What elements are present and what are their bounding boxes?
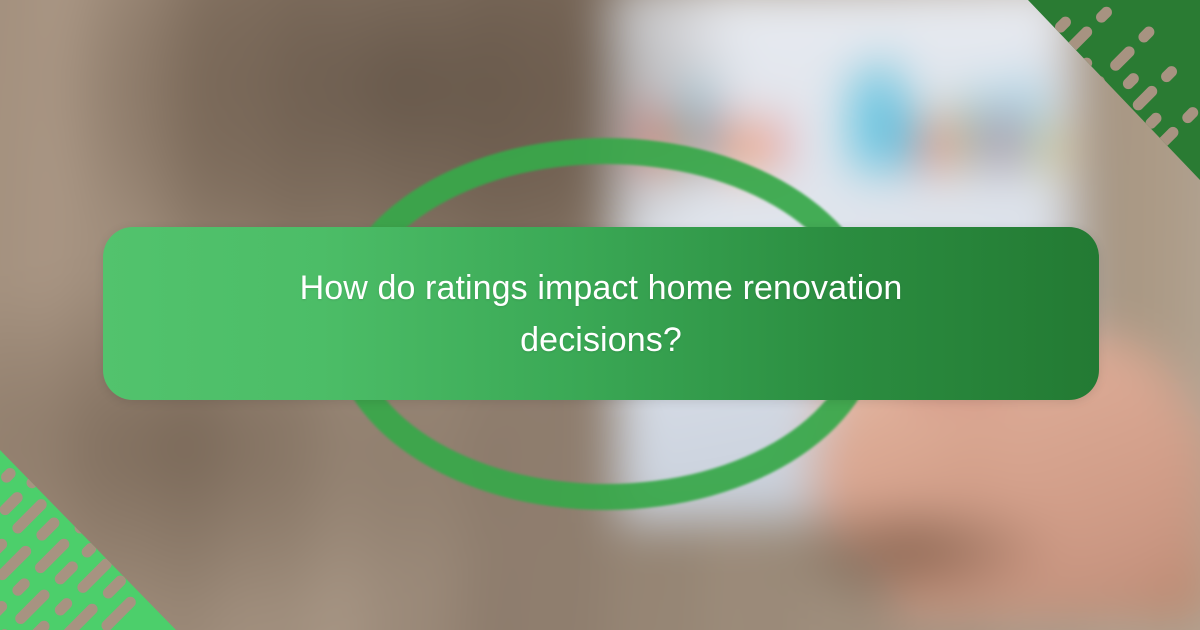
page-title: How do ratings impact home renovation de… [221,262,981,366]
headline-banner: How do ratings impact home renovation de… [103,227,1099,400]
chart-bar [876,62,894,170]
desk-shadow-under-hand [812,511,1056,606]
social-card-canvas: How do ratings impact home renovation de… [0,0,1200,630]
chart-bar [946,110,964,169]
chart-bar [761,119,779,170]
chart-bar [852,77,870,170]
chart-bar [992,115,1010,170]
corner-decoration-bottom-left [0,450,180,630]
chart-bar [922,125,940,170]
chart-bar [899,98,917,170]
chart-bar [969,91,987,169]
corner-decoration-top-right [1020,0,1200,180]
